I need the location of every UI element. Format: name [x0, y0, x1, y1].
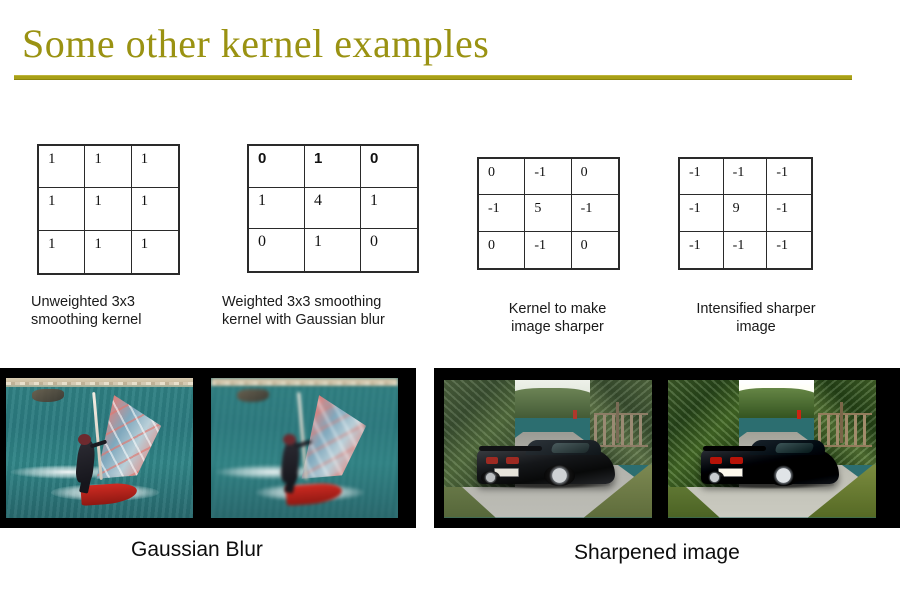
caption-line: Kernel to make	[470, 300, 645, 318]
kernel-cell: 1	[132, 231, 178, 273]
kernel-cell: -1	[767, 159, 811, 195]
photo-panel-label-sharpened: Sharpened image	[574, 541, 740, 565]
caption-line: image sharper	[470, 318, 645, 336]
kernel-cell-value: 0	[370, 150, 378, 167]
kernel-cell: 0	[361, 146, 417, 188]
windsurf-photo-original	[6, 378, 193, 518]
kernel-cell-value: 0	[581, 238, 588, 254]
kernel-cell-value: 5	[534, 201, 541, 217]
kernel-cell: -1	[680, 195, 724, 231]
kernel-cell-value: 9	[733, 201, 740, 217]
kernel-caption-intensified: Intensified sharper image	[666, 300, 846, 336]
kernel-cell-value: -1	[689, 201, 701, 217]
kernel-cell-value: 0	[370, 233, 378, 251]
caption-line: Unweighted 3x3	[31, 293, 231, 311]
kernel-cell: -1	[572, 195, 618, 231]
caption-line: kernel with Gaussian blur	[222, 311, 437, 329]
kernel-cell: 1	[361, 188, 417, 230]
kernel-cell: 1	[132, 146, 178, 188]
caption-line: Weighted 3x3 smoothing	[222, 293, 437, 311]
kernel-cell: -1	[724, 159, 768, 195]
kernel-cell-value: 0	[488, 238, 495, 254]
kernel-cell-value: -1	[689, 165, 701, 181]
kernel-cell-value: -1	[689, 238, 701, 254]
kernel-cell: 1	[305, 229, 361, 271]
kernel-cell: 1	[85, 188, 131, 230]
kernel-cell: 0	[479, 232, 525, 268]
kernel-cell: 1	[39, 188, 85, 230]
kernel-cell-value: 1	[48, 236, 56, 253]
kernel-cell-value: -1	[776, 201, 788, 217]
kernel-cell: -1	[767, 195, 811, 231]
kernel-cell: 1	[39, 231, 85, 273]
kernel-cell-value: 1	[94, 236, 102, 253]
kernel-cell: 1	[85, 231, 131, 273]
title-divider	[14, 75, 852, 80]
kernel-cell: 0	[249, 229, 305, 271]
photo-panel-sharpened	[434, 368, 900, 528]
kernel-cell-value: -1	[733, 238, 745, 254]
kernel-matrix-unweighted: 1 1 1 1 1 1 1 1 1	[37, 144, 180, 275]
kernel-cell: 1	[249, 188, 305, 230]
kernel-cell-value: 1	[141, 193, 149, 210]
kernel-cell: 0	[479, 159, 525, 195]
kernel-cell-value: 4	[314, 192, 322, 210]
kernel-caption-gaussian: Weighted 3x3 smoothing kernel with Gauss…	[222, 293, 437, 329]
kernel-cell: 0	[572, 159, 618, 195]
kernel-cell: -1	[525, 232, 571, 268]
kernel-cell: -1	[680, 232, 724, 268]
kernel-cell-value: -1	[581, 201, 593, 217]
photo-panel-label-gaussian-blur: Gaussian Blur	[131, 538, 263, 562]
kernel-cell: 1	[85, 146, 131, 188]
kernel-cell-value: -1	[776, 238, 788, 254]
kernel-cell: 5	[525, 195, 571, 231]
kernel-cell-value: 1	[314, 233, 322, 251]
windsurf-photo-blurred	[211, 378, 398, 518]
kernel-cell-value: 1	[48, 193, 56, 210]
caption-line: image	[666, 318, 846, 336]
kernel-caption-unweighted: Unweighted 3x3 smoothing kernel	[31, 293, 231, 329]
kernel-cell-value: 0	[258, 233, 266, 251]
kernel-cell: -1	[680, 159, 724, 195]
kernel-cell-value: 1	[94, 193, 102, 210]
kernel-cell-value: 1	[258, 192, 266, 210]
kernel-cell: 9	[724, 195, 768, 231]
kernel-cell: 1	[132, 188, 178, 230]
kernel-cell: 1	[39, 146, 85, 188]
kernel-cell-value: 0	[258, 150, 266, 167]
caption-line: smoothing kernel	[31, 311, 231, 329]
caption-line: Intensified sharper	[666, 300, 846, 318]
kernel-cell: -1	[479, 195, 525, 231]
kernel-cell-value: 0	[488, 165, 495, 181]
kernel-caption-sharpen: Kernel to make image sharper	[470, 300, 645, 336]
page-title: Some other kernel examples	[22, 20, 489, 68]
kernel-cell-value: -1	[733, 165, 745, 181]
kernel-cell-value: 0	[581, 165, 588, 181]
kernel-cell-value: 1	[314, 150, 322, 167]
kernel-cell: -1	[525, 159, 571, 195]
kernel-cell: 1	[305, 146, 361, 188]
kernel-cell: 0	[572, 232, 618, 268]
kernel-cell-value: -1	[534, 165, 546, 181]
kernel-cell: -1	[767, 232, 811, 268]
kernel-cell-value: -1	[534, 238, 546, 254]
kernel-matrix-gaussian: 0 1 0 1 4 1 0 1 0	[247, 144, 419, 273]
kernel-cell: -1	[724, 232, 768, 268]
kernel-cell-value: 1	[370, 192, 378, 210]
kernel-cell: 4	[305, 188, 361, 230]
kernel-cell-value: -1	[488, 201, 500, 217]
kernel-matrix-intensified: -1 -1 -1 -1 9 -1 -1 -1 -1	[678, 157, 813, 270]
kernel-cell-value: 1	[94, 151, 102, 168]
car-photo-sharpened	[668, 380, 876, 518]
car-photo-original	[444, 380, 652, 518]
photo-panel-gaussian-blur	[0, 368, 416, 528]
kernel-cell: 0	[249, 146, 305, 188]
kernel-cell-value: -1	[776, 165, 788, 181]
kernel-cell-value: 1	[141, 151, 149, 168]
kernel-cell-value: 1	[48, 151, 56, 168]
kernel-matrix-sharpen: 0 -1 0 -1 5 -1 0 -1 0	[477, 157, 620, 270]
kernel-cell: 0	[361, 229, 417, 271]
kernel-cell-value: 1	[141, 236, 149, 253]
